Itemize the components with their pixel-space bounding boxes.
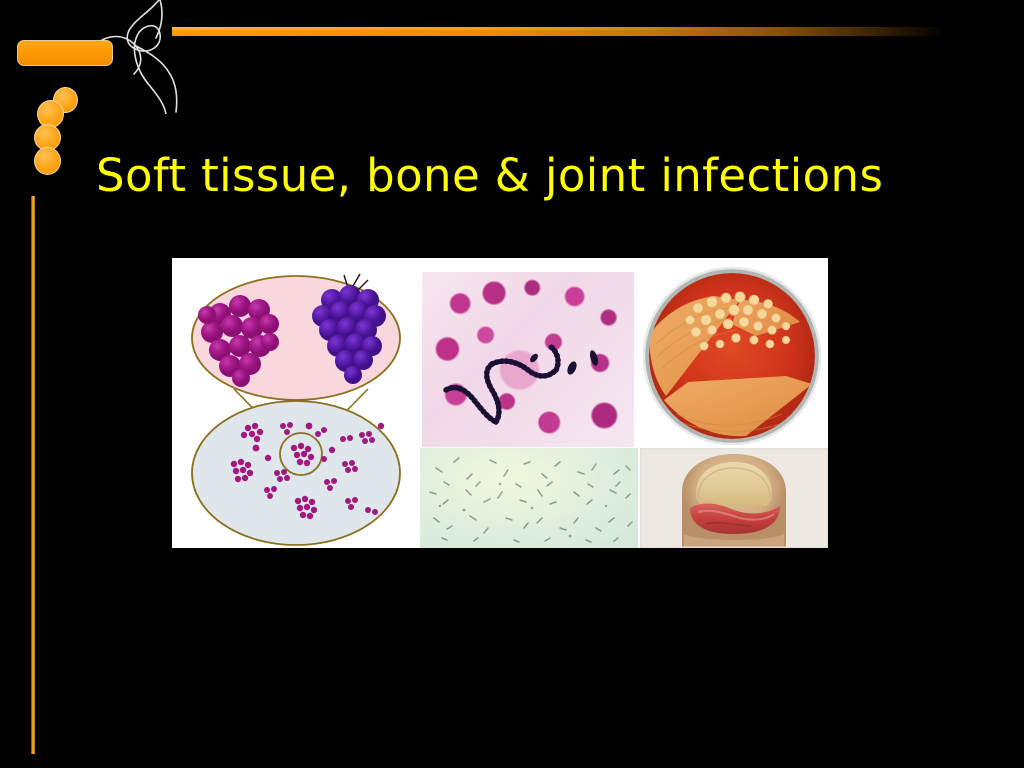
decor-dot-4 [34, 147, 61, 175]
page-title: Soft tissue, bone & joint infections [96, 152, 976, 199]
top-bar-highlight [172, 27, 732, 30]
orange-rounded-badge [17, 40, 113, 66]
streptococcal-chain [422, 272, 634, 447]
panel-gram-stain-streptococci [422, 272, 634, 447]
white-scribble-lines [100, 0, 210, 114]
slide-canvas: Soft tissue, bone & joint infections [0, 0, 1024, 768]
microbiology-image-collage [172, 258, 828, 548]
left-orange-rule [31, 196, 35, 754]
panel-paronychia-photo [640, 448, 828, 548]
panel-blood-agar-plate [636, 264, 828, 448]
panel-pale-micrograph [420, 448, 638, 548]
panel-staph-schematic [172, 258, 420, 548]
